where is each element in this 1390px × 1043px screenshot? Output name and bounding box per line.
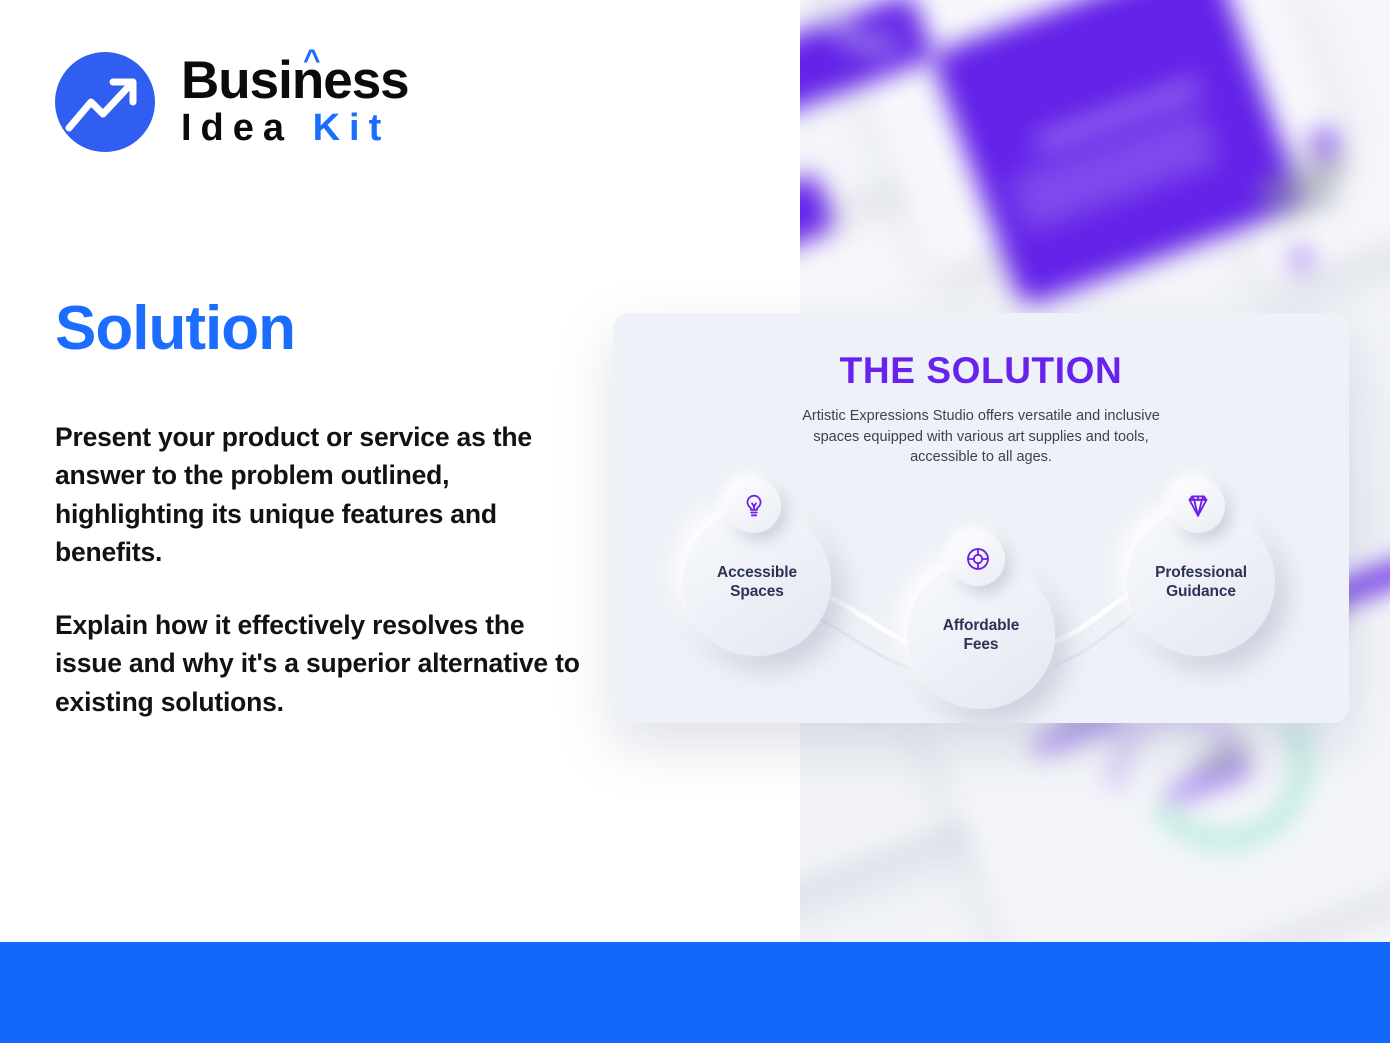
solution-node-label-line1: Accessible — [717, 563, 797, 582]
solution-node-label-line2: Fees — [943, 635, 1020, 654]
body-copy: Present your product or service as the a… — [55, 418, 595, 721]
solution-node-label-line2: Guidance — [1155, 582, 1247, 601]
solution-node-icon-badge — [951, 532, 1005, 586]
solution-node-icon-badge — [1171, 479, 1225, 533]
background-dot — [1312, 130, 1338, 156]
brand-logo: Business ^ Idea Kit — [55, 52, 409, 152]
solution-node-label: Affordable Fees — [943, 616, 1020, 655]
brand-name-line2: Idea Kit — [181, 108, 409, 150]
brand-name-line2-dark: Idea — [181, 107, 313, 149]
body-paragraph-2: Explain how it effectively resolves the … — [55, 606, 595, 721]
solution-node-icon-badge — [727, 479, 781, 533]
brand-name-line1-text: Business — [181, 51, 409, 110]
body-paragraph-1: Present your product or service as the a… — [55, 418, 595, 572]
diamond-icon — [1185, 493, 1211, 519]
solution-node-label: Professional Guidance — [1155, 563, 1247, 602]
solution-node-label: Accessible Spaces — [717, 563, 797, 602]
growth-chart-arrow-icon — [55, 52, 155, 152]
solution-node-label-line2: Spaces — [717, 582, 797, 601]
solution-node-affordable-fees[interactable]: Affordable Fees — [907, 561, 1055, 709]
solution-node-accessible-spaces[interactable]: Accessible Spaces — [683, 508, 831, 656]
lifebuoy-icon — [965, 546, 991, 572]
lightbulb-icon — [741, 493, 767, 519]
brand-accent-caret-icon: ^ — [303, 46, 320, 76]
solution-node-professional-guidance[interactable]: Professional Guidance — [1127, 508, 1275, 656]
brand-name-line2-accent: Kit — [313, 107, 391, 149]
brand-wordmark: Business ^ Idea Kit — [181, 55, 409, 150]
page-title: Solution — [55, 293, 295, 364]
brand-name-line1: Business ^ — [181, 55, 409, 107]
background-dot — [1292, 250, 1310, 268]
footer-bar — [0, 942, 1390, 1043]
solution-node-label-line1: Affordable — [943, 616, 1020, 635]
solution-card: THE SOLUTION Artistic Expressions Studio… — [613, 313, 1349, 723]
solution-node-label-line1: Professional — [1155, 563, 1247, 582]
